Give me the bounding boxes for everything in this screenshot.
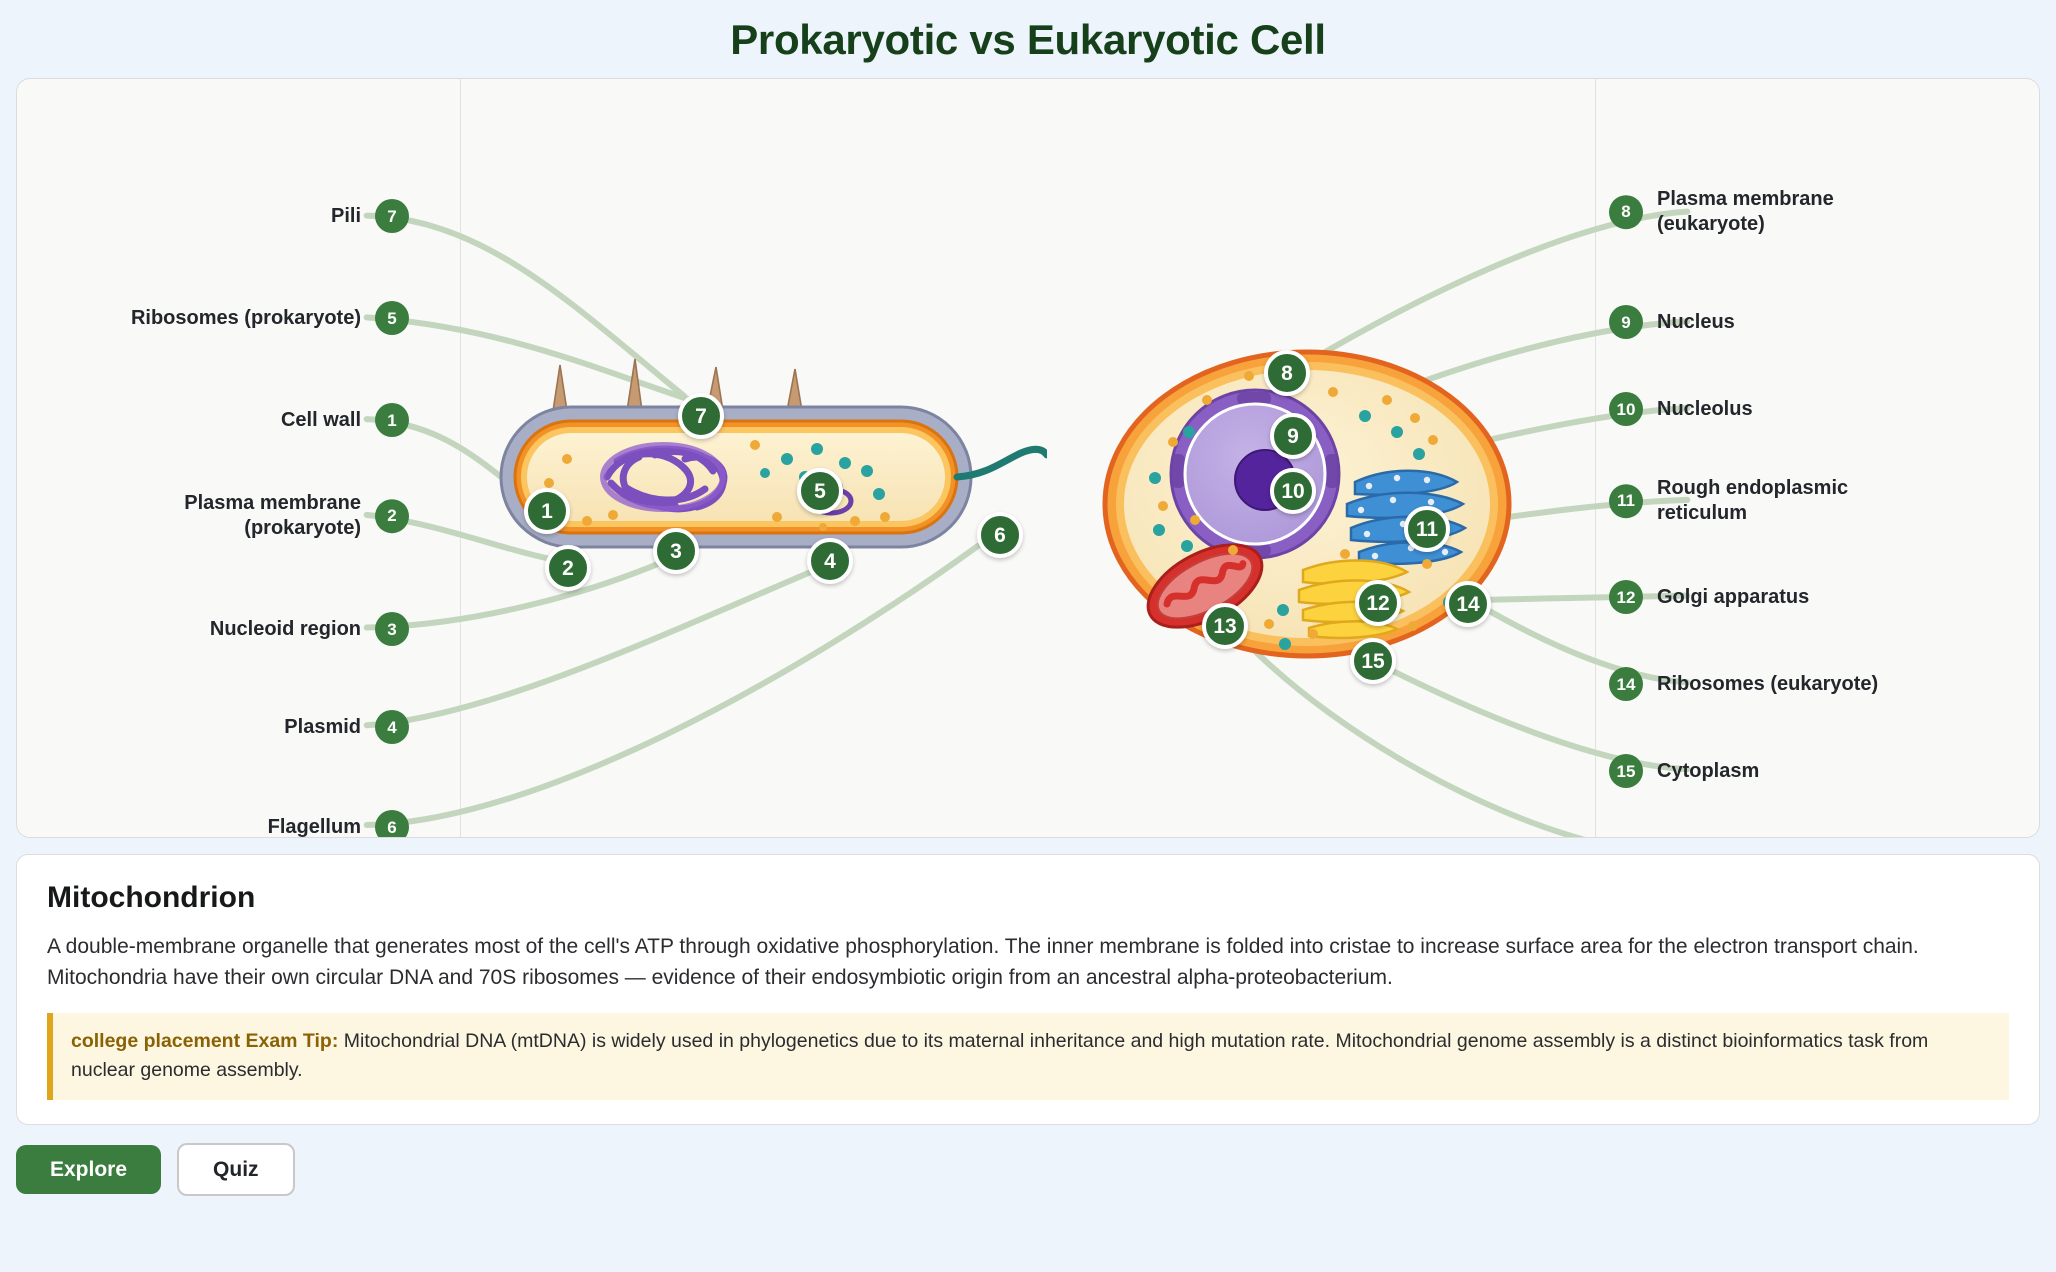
label-row-nucleolus[interactable]: 10Nucleolus <box>1609 392 1753 426</box>
hotspot-marker-12[interactable]: 12 <box>1355 580 1401 626</box>
label-row-rough-endoplasmic[interactable]: 11Rough endoplasmic reticulum <box>1609 476 1848 526</box>
description-panel: Mitochondrion A double-membrane organell… <box>16 854 2040 1125</box>
hotspot-marker-7[interactable]: 7 <box>678 393 724 439</box>
label-row-pili[interactable]: Pili7 <box>331 199 409 233</box>
description-body: A double-membrane organelle that generat… <box>47 931 2009 993</box>
label-badge[interactable]: 8 <box>1609 195 1643 229</box>
page-title: Prokaryotic vs Eukaryotic Cell <box>0 0 2056 78</box>
label-text: Pili <box>331 204 361 229</box>
explore-button[interactable]: Explore <box>16 1145 161 1194</box>
label-badge[interactable]: 5 <box>375 301 409 335</box>
label-row-cell-wall[interactable]: Cell wall1 <box>281 403 409 437</box>
hotspot-marker-4[interactable]: 4 <box>807 538 853 584</box>
label-badge[interactable]: 10 <box>1609 392 1643 426</box>
label-text: Nucleoid region <box>210 617 361 642</box>
label-text: Plasmid <box>284 715 361 740</box>
hotspot-marker-14[interactable]: 14 <box>1445 581 1491 627</box>
hotspot-marker-10[interactable]: 10 <box>1270 468 1316 514</box>
hotspot-marker-6[interactable]: 6 <box>977 512 1023 558</box>
hotspot-marker-8[interactable]: 8 <box>1264 350 1310 396</box>
label-row-golgi-apparatus[interactable]: 12Golgi apparatus <box>1609 580 1809 614</box>
right-column-divider <box>1595 79 1596 837</box>
label-row-plasmid[interactable]: Plasmid4 <box>284 710 409 744</box>
exam-tip-label: college placement Exam Tip: <box>71 1030 338 1052</box>
label-badge[interactable]: 9 <box>1609 305 1643 339</box>
diagram-panel: Pili7Ribosomes (prokaryote)5Cell wall1Pl… <box>16 78 2040 838</box>
label-row-ribosomes-prokaryote[interactable]: Ribosomes (prokaryote)5 <box>131 301 409 335</box>
label-badge[interactable]: 4 <box>375 710 409 744</box>
label-text: Ribosomes (prokaryote) <box>131 306 361 331</box>
label-badge[interactable]: 1 <box>375 403 409 437</box>
label-row-flagellum[interactable]: Flagellum6 <box>268 810 409 838</box>
exam-tip-text: Mitochondrial DNA (mtDNA) is widely used… <box>71 1030 1928 1081</box>
label-row-ribosomes-eukaryote[interactable]: 14Ribosomes (eukaryote) <box>1609 667 1878 701</box>
label-badge[interactable]: 2 <box>375 499 409 533</box>
left-column-divider <box>460 79 461 837</box>
label-text: Nucleolus <box>1657 397 1753 422</box>
label-row-plasma-membrane[interactable]: 8Plasma membrane (eukaryote) <box>1609 187 1834 237</box>
hotspot-marker-9[interactable]: 9 <box>1270 413 1316 459</box>
exam-tip-callout: college placement Exam Tip: Mitochondria… <box>47 1013 2009 1100</box>
label-text: Nucleus <box>1657 310 1735 335</box>
label-text: Ribosomes (eukaryote) <box>1657 672 1878 697</box>
quiz-button[interactable]: Quiz <box>177 1143 295 1196</box>
label-text: Golgi apparatus <box>1657 585 1809 610</box>
hotspot-marker-1[interactable]: 1 <box>524 488 570 534</box>
label-text: Plasma membrane (eukaryote) <box>1657 187 1834 237</box>
label-badge[interactable]: 15 <box>1609 754 1643 788</box>
hotspot-marker-15[interactable]: 15 <box>1350 638 1396 684</box>
cytoplasm-prokaryote <box>527 433 945 521</box>
hotspot-marker-13[interactable]: 13 <box>1202 603 1248 649</box>
hotspot-marker-2[interactable]: 2 <box>545 545 591 591</box>
hotspot-marker-5[interactable]: 5 <box>797 468 843 514</box>
label-badge[interactable]: 11 <box>1609 484 1643 518</box>
label-row-cytoplasm[interactable]: 15Cytoplasm <box>1609 754 1759 788</box>
label-text: Plasma membrane (prokaryote) <box>184 491 361 541</box>
label-text: Flagellum <box>268 815 361 838</box>
label-badge[interactable]: 6 <box>375 810 409 838</box>
hotspot-marker-11[interactable]: 11 <box>1404 506 1450 552</box>
footer-actions: Explore Quiz <box>16 1143 2040 1196</box>
label-row-plasma-membrane[interactable]: Plasma membrane (prokaryote)2 <box>184 491 409 541</box>
hotspot-marker-3[interactable]: 3 <box>653 528 699 574</box>
label-text: Cytoplasm <box>1657 759 1759 784</box>
label-badge[interactable]: 3 <box>375 612 409 646</box>
label-row-nucleus[interactable]: 9Nucleus <box>1609 305 1735 339</box>
pili-structures <box>553 359 802 411</box>
label-badge[interactable]: 12 <box>1609 580 1643 614</box>
label-badge[interactable]: 7 <box>375 199 409 233</box>
label-text: Cell wall <box>281 408 361 433</box>
description-title: Mitochondrion <box>47 881 2009 915</box>
label-badge[interactable]: 14 <box>1609 667 1643 701</box>
label-row-nucleoid-region[interactable]: Nucleoid region3 <box>210 612 409 646</box>
label-text: Rough endoplasmic reticulum <box>1657 476 1848 526</box>
